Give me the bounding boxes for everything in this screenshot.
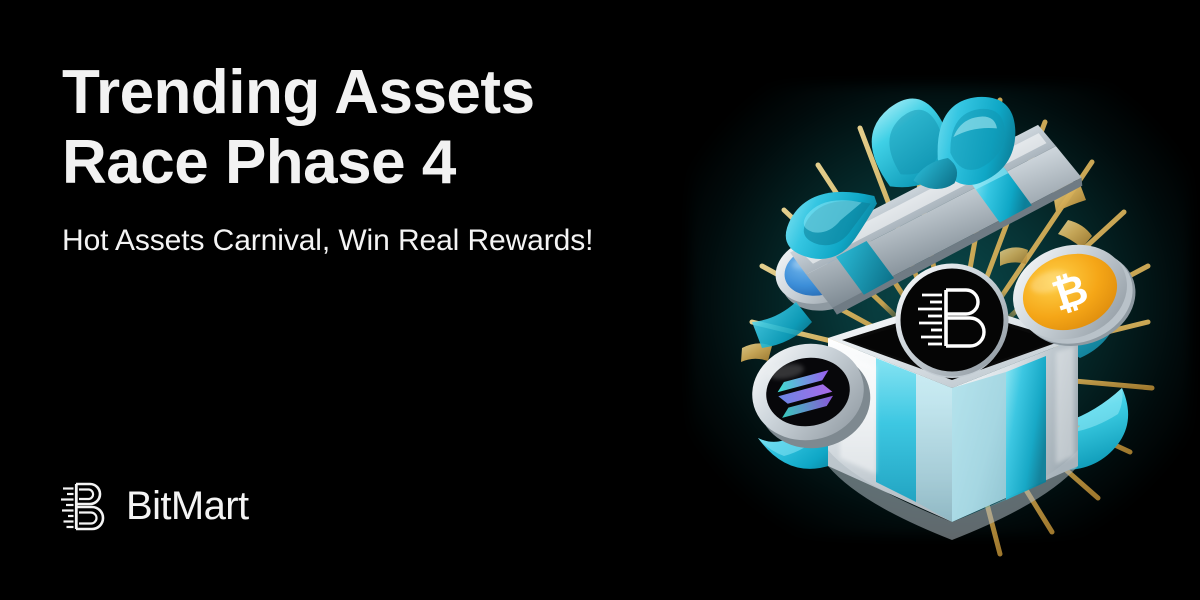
page-title: Trending Assets Race Phase 4 [62, 58, 702, 198]
gift-box-illustration: ₿ [700, 70, 1200, 570]
brand-wordmark: BitMart [126, 484, 248, 529]
copy-block: Trending Assets Race Phase 4 Hot Assets … [62, 58, 702, 258]
ribbon-vertical-right [1006, 356, 1046, 500]
bitmart-coin [898, 266, 1006, 378]
ribbon-edge-left-under-lid [752, 302, 812, 348]
ribbon-vertical-left [876, 358, 916, 502]
promo-banner: Trending Assets Race Phase 4 Hot Assets … [0, 0, 1200, 600]
page-subtitle: Hot Assets Carnival, Win Real Rewards! [62, 224, 702, 258]
bitmart-b-mark-icon [60, 480, 110, 532]
brand-logo: BitMart [60, 480, 248, 532]
